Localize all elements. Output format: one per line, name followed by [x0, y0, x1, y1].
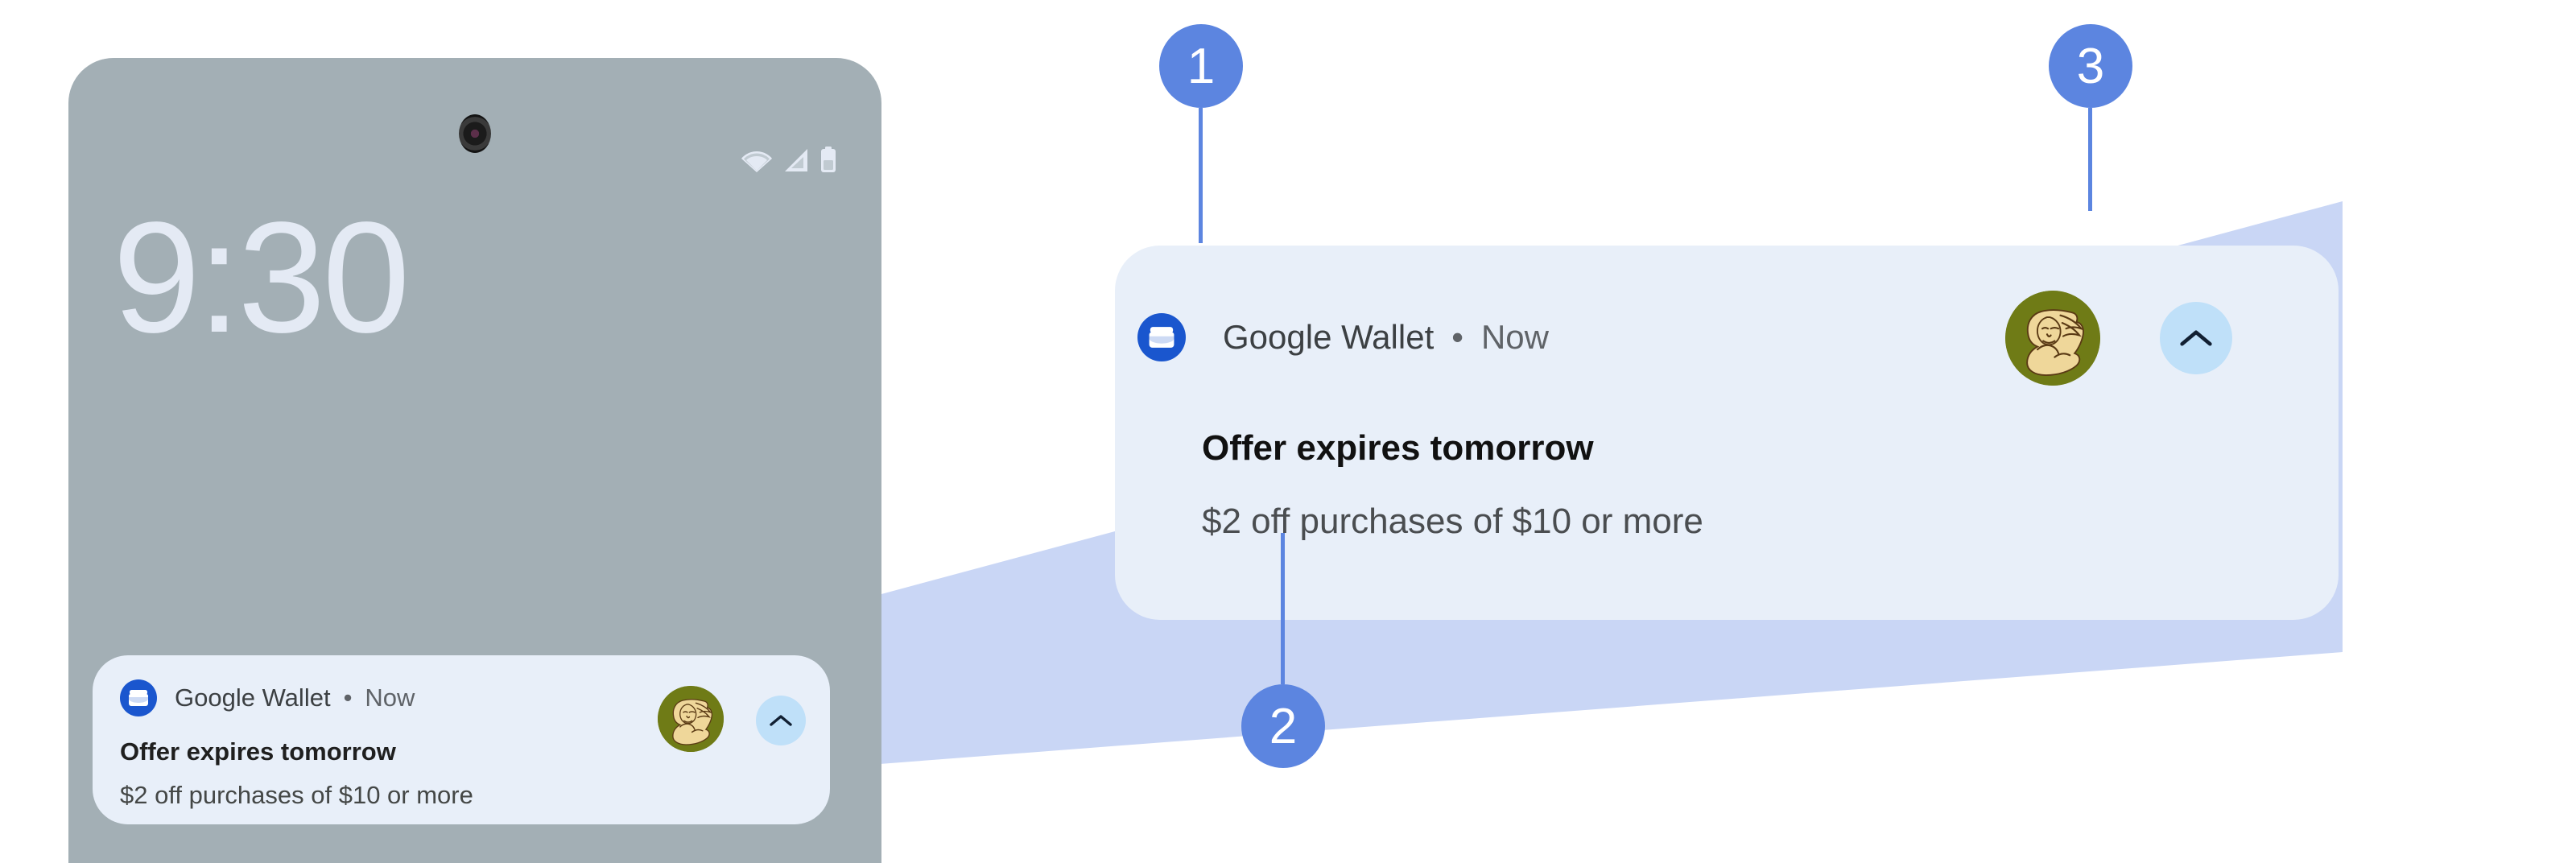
merchant-avatar-icon: [2005, 291, 2100, 386]
notification-card-small[interactable]: Google Wallet • Now: [93, 655, 830, 824]
notification-body: $2 off purchases of $10 or more: [120, 781, 803, 810]
chevron-up-icon[interactable]: [756, 696, 806, 745]
status-bar: [741, 147, 837, 174]
phone-mockup: 9:30 Google Wallet • Now: [68, 58, 881, 863]
notification-timestamp: Now: [1481, 318, 1549, 357]
annotated-notification-figure: 9:30 Google Wallet • Now: [0, 0, 2576, 863]
callout-leader-line: [2088, 108, 2092, 211]
callout-leader-line: [1199, 108, 1203, 243]
separator-dot: •: [1451, 318, 1463, 357]
wifi-icon: [741, 147, 773, 173]
notification-app-name: Google Wallet: [1223, 318, 1434, 357]
notification-header-large: Google Wallet • Now: [1202, 313, 1549, 361]
google-wallet-icon: [1137, 313, 1186, 361]
callout-badge-number: 3: [2049, 24, 2132, 108]
notification-body: $2 off purchases of $10 or more: [1202, 502, 1703, 542]
merchant-avatar-icon: [658, 686, 724, 752]
callout-2: 2: [1241, 684, 1325, 768]
cellular-signal-icon: [782, 147, 810, 173]
notification-title: Offer expires tomorrow: [1202, 428, 1594, 469]
callout-badge-number: 2: [1241, 684, 1325, 768]
notification-app-name: Google Wallet: [175, 683, 331, 712]
separator-dot: •: [344, 683, 353, 712]
chevron-up-icon[interactable]: [2160, 302, 2232, 374]
callout-badge-number: 1: [1159, 24, 1243, 108]
callout-3: 3: [2049, 24, 2132, 108]
google-wallet-icon: [120, 679, 157, 716]
lock-screen-clock: 9:30: [113, 199, 407, 357]
notification-timestamp: Now: [365, 683, 415, 712]
callout-leader-line: [1281, 533, 1285, 684]
callout-1: 1: [1159, 24, 1243, 108]
front-camera-icon: [459, 114, 491, 153]
battery-icon: [819, 147, 837, 174]
notification-card-enlarged[interactable]: Google Wallet • Now: [1115, 246, 2339, 620]
